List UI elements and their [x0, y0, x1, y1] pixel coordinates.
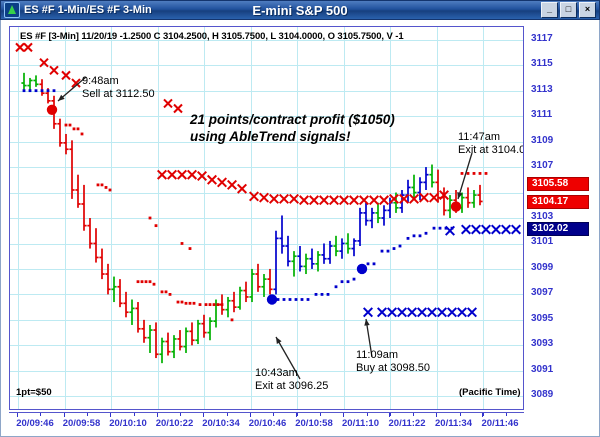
ohlc-bar	[303, 254, 308, 274]
trade-marker-exit-short	[267, 294, 277, 304]
time-axis-minor-tick	[483, 413, 484, 416]
support-dots-blue	[23, 89, 56, 92]
time-axis-label: 20/10:46	[249, 418, 287, 429]
time-axis-minor-tick	[157, 413, 158, 416]
exit-long-time: 11:47am	[458, 131, 524, 144]
annotation-exit-short: 10:43am Exit at 3096.25	[255, 367, 328, 393]
ohlc-bar	[93, 228, 98, 262]
sell-time: 9:48am	[82, 75, 155, 88]
ohlc-bar	[111, 277, 116, 302]
ohlc-bar	[273, 231, 278, 295]
chart-info-line: ES #F [3-Min] 11/20/19 -1.2500 C 3104.25…	[20, 31, 404, 42]
exit-short-price: Exit at 3096.25	[255, 380, 328, 393]
ohlc-bar	[69, 140, 74, 199]
stop-x-red-entry	[16, 43, 80, 87]
ohlc-bar	[309, 249, 314, 269]
point-value-label: 1pt=$50	[16, 387, 52, 398]
ohlc-bar	[177, 330, 182, 350]
price-axis-tick: 3089	[531, 389, 553, 400]
close-button[interactable]: ×	[579, 2, 596, 18]
ohlc-bar	[81, 185, 86, 231]
time-axis-label: 20/11:10	[342, 418, 379, 429]
time-axis-label: 20/10:34	[202, 418, 240, 429]
window-controls: _ □ ×	[541, 2, 596, 18]
profit-line-1: 21 points/contract profit ($1050)	[190, 111, 395, 128]
price-axis-tick: 3113	[531, 84, 553, 95]
ohlc-bar	[279, 215, 284, 253]
ohlc-bar	[159, 338, 164, 363]
time-axis-minor-tick	[390, 413, 391, 416]
time-axis-minor-tick	[343, 413, 344, 416]
ohlc-bar	[477, 185, 482, 205]
ohlc-bar	[39, 79, 44, 96]
price-box-bid: 3104.17	[527, 195, 589, 209]
ohlc-bar	[21, 73, 26, 90]
annotation-profit-callout: 21 points/contract profit ($1050) using …	[190, 111, 395, 145]
trading-chart-window: ES #F 1-Min/ES #F 3-Min E-mini S&P 500 _…	[0, 0, 600, 437]
ohlc-bar	[363, 203, 368, 226]
ohlc-bar	[117, 279, 122, 307]
sell-price: Sell at 3112.50	[82, 88, 155, 101]
annotation-sell-signal: 9:48am Sell at 3112.50	[82, 75, 155, 101]
time-axis[interactable]: 20/09:4620/09:5820/10:1020/10:2220/10:34…	[9, 412, 593, 434]
minimize-button[interactable]: _	[541, 2, 558, 18]
ohlc-bar	[99, 249, 104, 280]
time-axis-label: 20/09:46	[16, 418, 54, 429]
exit-short-time: 10:43am	[255, 367, 328, 380]
ohlc-bar	[87, 218, 92, 249]
ohlc-bar	[291, 251, 296, 276]
price-plot-area[interactable]: ES #F [3-Min] 11/20/19 -1.2500 C 3104.25…	[9, 26, 524, 410]
time-axis-minor-tick	[227, 413, 228, 416]
exit-long-price: Exit at 3104.00	[458, 144, 524, 157]
chart-body: ES #F [3-Min] 11/20/19 -1.2500 C 3104.25…	[0, 20, 600, 437]
ohlc-bar	[153, 322, 158, 358]
price-axis-tick: 3109	[531, 135, 553, 146]
buy-time: 11:09am	[356, 349, 430, 362]
timezone-label: (Pacific Time)	[459, 387, 521, 398]
time-axis-label: 20/10:22	[156, 418, 194, 429]
ohlc-bar	[195, 320, 200, 344]
price-axis-tick: 3093	[531, 338, 553, 349]
price-axis-tick: 3101	[531, 236, 553, 247]
ohlc-bar	[201, 315, 206, 338]
ohlc-bar	[321, 243, 326, 263]
ohlc-bar	[327, 241, 332, 264]
time-axis-minor-tick	[17, 413, 18, 416]
stop-x-red-trail	[158, 170, 449, 204]
ohlc-bar	[441, 187, 446, 215]
ohlc-bar	[75, 175, 80, 208]
time-axis-minor-tick	[460, 413, 461, 416]
ohlc-bar	[207, 317, 212, 340]
time-axis-label: 20/10:58	[295, 418, 333, 429]
time-axis-minor-tick	[180, 413, 181, 416]
price-axis-tick: 3091	[531, 364, 553, 375]
time-axis-minor-tick	[203, 413, 204, 416]
ohlc-bar	[411, 175, 416, 198]
time-axis-minor-tick	[250, 413, 251, 416]
price-axis-tick: 3099	[531, 262, 553, 273]
ohlc-bar	[345, 233, 350, 253]
maximize-button[interactable]: □	[560, 2, 577, 18]
ohlc-bar	[171, 335, 176, 358]
ohlc-bar	[243, 282, 248, 302]
time-axis-minor-tick	[110, 413, 111, 416]
ohlc-bar	[189, 322, 194, 345]
trade-marker-sell	[47, 105, 57, 115]
title-bar: ES #F 1-Min/ES #F 3-Min E-mini S&P 500 _…	[0, 0, 600, 20]
support-dots-blue	[277, 227, 454, 301]
price-box-ask: 3105.58	[527, 177, 589, 191]
ohlc-bar	[249, 269, 254, 302]
ohlc-bar	[471, 190, 476, 208]
ohlc-bar	[57, 119, 62, 147]
price-box-stop: 3102.02	[527, 222, 589, 236]
support-dots-red	[65, 124, 224, 306]
ohlc-bar	[105, 264, 110, 295]
time-axis-label: 20/09:58	[63, 418, 101, 429]
time-axis-minor-tick	[297, 413, 298, 416]
time-axis-minor-tick	[134, 413, 135, 416]
ohlc-bar	[297, 246, 302, 271]
time-axis-minor-tick	[506, 413, 507, 416]
time-axis-minor-tick	[87, 413, 88, 416]
ohlc-bar	[267, 269, 272, 294]
stop-x-blue-long	[364, 308, 477, 317]
ohlc-bar	[333, 236, 338, 256]
time-axis-minor-tick	[413, 413, 414, 416]
ohlc-bar	[129, 299, 134, 324]
price-axis-tick: 3103	[531, 211, 553, 222]
ohlc-bar	[285, 236, 290, 267]
support-dots-red-right	[461, 172, 488, 175]
ohlc-bar	[405, 180, 410, 203]
ohlc-bar	[231, 292, 236, 312]
window-left-title: ES #F 1-Min/ES #F 3-Min	[24, 4, 152, 16]
time-axis-label: 20/11:22	[389, 418, 426, 429]
price-axis-tick: 3095	[531, 313, 553, 324]
ohlc-bar	[255, 264, 260, 292]
price-axis-tick: 3107	[531, 160, 553, 171]
ohlc-bar	[381, 205, 386, 225]
ohlc-bar	[375, 203, 380, 223]
time-axis-label: 20/11:46	[482, 418, 519, 429]
ohlc-bar	[465, 187, 470, 207]
annotation-buy-signal: 11:09am Buy at 3098.50	[356, 349, 430, 375]
ohlc-bar	[141, 320, 146, 343]
buy-price: Buy at 3098.50	[356, 362, 430, 375]
time-axis-minor-tick	[436, 413, 437, 416]
time-axis-label: 20/11:34	[435, 418, 472, 429]
ohlc-bar	[165, 333, 170, 356]
ohlc-bar	[123, 292, 128, 317]
ohlc-bar	[225, 297, 230, 317]
ohlc-bar	[369, 208, 374, 228]
ohlc-bar	[315, 251, 320, 271]
time-axis-minor-tick	[367, 413, 368, 416]
time-axis-minor-tick	[40, 413, 41, 416]
trade-marker-buy	[357, 264, 367, 274]
annotation-exit-long: 11:47am Exit at 3104.00	[458, 131, 524, 157]
ohlc-bar	[33, 75, 38, 86]
time-axis-minor-tick	[320, 413, 321, 416]
stop-x-blue-right	[446, 225, 521, 235]
price-axis-tick: 3111	[531, 109, 552, 120]
ohlc-bar	[237, 287, 242, 310]
profit-line-2: using AbleTrend signals!	[190, 128, 395, 145]
ohlc-bar	[435, 170, 440, 203]
ohlc-bar	[357, 208, 362, 246]
time-axis-label: 20/10:10	[109, 418, 147, 429]
price-axis-tick: 3097	[531, 287, 553, 298]
ohlc-bar	[147, 325, 152, 353]
ohlc-bar	[423, 167, 428, 190]
price-axis[interactable]: 3117311531133111310931073103310130993097…	[527, 26, 593, 410]
stop-x-red-upper	[164, 99, 182, 112]
price-axis-tick: 3115	[531, 58, 553, 69]
leader-exit-long	[457, 153, 472, 199]
trade-marker-exit-long	[451, 201, 461, 211]
ohlc-bar	[183, 328, 188, 353]
time-axis-minor-tick	[273, 413, 274, 416]
ohlc-bar	[135, 302, 140, 333]
ohlc-bar	[429, 165, 434, 188]
time-axis-minor-tick	[64, 413, 65, 416]
ohlc-bar	[339, 238, 344, 258]
ohlc-bar	[27, 78, 32, 91]
ohlc-bar	[351, 238, 356, 256]
ohlc-bar	[63, 134, 68, 154]
ohlc-bar	[261, 274, 266, 297]
abletrend-app-icon	[4, 2, 20, 18]
price-axis-tick: 3117	[531, 33, 553, 44]
